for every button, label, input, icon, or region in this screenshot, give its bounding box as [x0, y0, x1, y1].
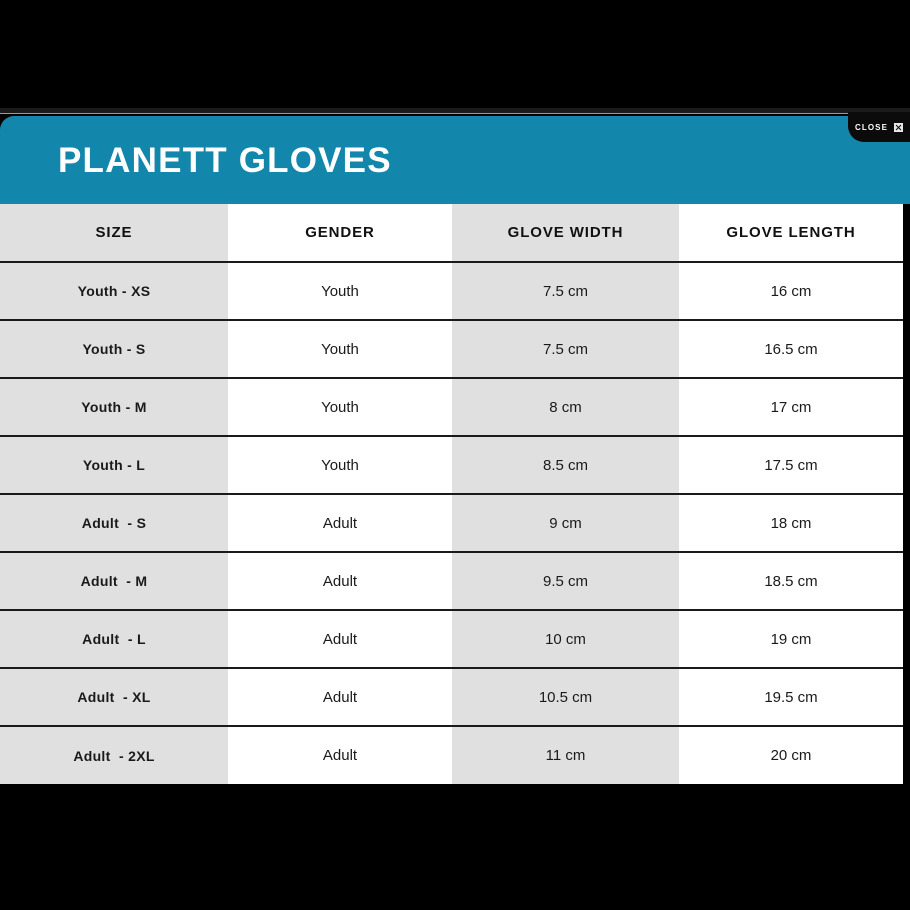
page-backdrop: CLOSE PLANETT GLOVES SIZE GENDER GLOVE W…: [0, 0, 910, 910]
table-row: Youth - SYouth7.5 cm16.5 cm: [0, 320, 903, 378]
column-header-size: SIZE: [0, 204, 228, 262]
modal-bottom-backdrop: [0, 792, 910, 910]
table-header-row: SIZE GENDER GLOVE WIDTH GLOVE LENGTH: [0, 204, 903, 262]
modal-top-strip: [0, 108, 910, 114]
cell-glove-width: 9.5 cm: [452, 552, 679, 610]
cell-size: Adult - M: [0, 552, 228, 610]
cell-glove-length: 17.5 cm: [679, 436, 903, 494]
column-header-gender: GENDER: [228, 204, 452, 262]
cell-glove-width: 7.5 cm: [452, 320, 679, 378]
cell-size: Adult - XL: [0, 668, 228, 726]
cell-glove-length: 19.5 cm: [679, 668, 903, 726]
cell-gender: Youth: [228, 378, 452, 436]
cell-size: Adult - L: [0, 610, 228, 668]
cell-size: Youth - M: [0, 378, 228, 436]
modal-inner: PLANETT GLOVES SIZE GENDER GLOVE WIDTH G…: [0, 116, 910, 788]
cell-glove-width: 10 cm: [452, 610, 679, 668]
table-row: Adult - MAdult9.5 cm18.5 cm: [0, 552, 903, 610]
close-button[interactable]: CLOSE: [848, 112, 910, 142]
cell-gender: Adult: [228, 610, 452, 668]
cell-gender: Adult: [228, 552, 452, 610]
cell-glove-width: 9 cm: [452, 494, 679, 552]
cell-glove-length: 18.5 cm: [679, 552, 903, 610]
table-row: Adult - SAdult9 cm18 cm: [0, 494, 903, 552]
page-title: PLANETT GLOVES: [58, 143, 392, 178]
size-chart-table-wrapper: SIZE GENDER GLOVE WIDTH GLOVE LENGTH You…: [0, 204, 910, 788]
size-chart-table: SIZE GENDER GLOVE WIDTH GLOVE LENGTH You…: [0, 204, 903, 784]
table-body: Youth - XSYouth7.5 cm16 cmYouth - SYouth…: [0, 262, 903, 784]
table-row: Adult - XLAdult10.5 cm19.5 cm: [0, 668, 903, 726]
cell-glove-length: 16 cm: [679, 262, 903, 320]
cell-size: Youth - L: [0, 436, 228, 494]
column-header-glove-width: GLOVE WIDTH: [452, 204, 679, 262]
table-row: Youth - XSYouth7.5 cm16 cm: [0, 262, 903, 320]
cell-glove-width: 8.5 cm: [452, 436, 679, 494]
cell-size: Youth - XS: [0, 262, 228, 320]
table-row: Adult - 2XLAdult11 cm20 cm: [0, 726, 903, 784]
cell-size: Adult - S: [0, 494, 228, 552]
table-header: SIZE GENDER GLOVE WIDTH GLOVE LENGTH: [0, 204, 903, 262]
size-chart-modal: CLOSE PLANETT GLOVES SIZE GENDER GLOVE W…: [0, 116, 910, 788]
cell-glove-width: 8 cm: [452, 378, 679, 436]
table-row: Youth - MYouth8 cm17 cm: [0, 378, 903, 436]
close-button-label: CLOSE: [855, 123, 888, 132]
cell-glove-width: 7.5 cm: [452, 262, 679, 320]
cell-glove-length: 19 cm: [679, 610, 903, 668]
close-x-icon[interactable]: [894, 123, 903, 132]
column-header-glove-length: GLOVE LENGTH: [679, 204, 903, 262]
cell-gender: Youth: [228, 320, 452, 378]
cell-size: Adult - 2XL: [0, 726, 228, 784]
cell-glove-length: 20 cm: [679, 726, 903, 784]
cell-glove-width: 11 cm: [452, 726, 679, 784]
modal-header-banner: PLANETT GLOVES: [0, 116, 910, 204]
cell-gender: Adult: [228, 668, 452, 726]
cell-gender: Adult: [228, 726, 452, 784]
table-row: Adult - LAdult10 cm19 cm: [0, 610, 903, 668]
cell-gender: Adult: [228, 494, 452, 552]
cell-glove-length: 17 cm: [679, 378, 903, 436]
cell-glove-width: 10.5 cm: [452, 668, 679, 726]
cell-gender: Youth: [228, 262, 452, 320]
cell-size: Youth - S: [0, 320, 228, 378]
cell-gender: Youth: [228, 436, 452, 494]
cell-glove-length: 18 cm: [679, 494, 903, 552]
cell-glove-length: 16.5 cm: [679, 320, 903, 378]
table-row: Youth - LYouth8.5 cm17.5 cm: [0, 436, 903, 494]
